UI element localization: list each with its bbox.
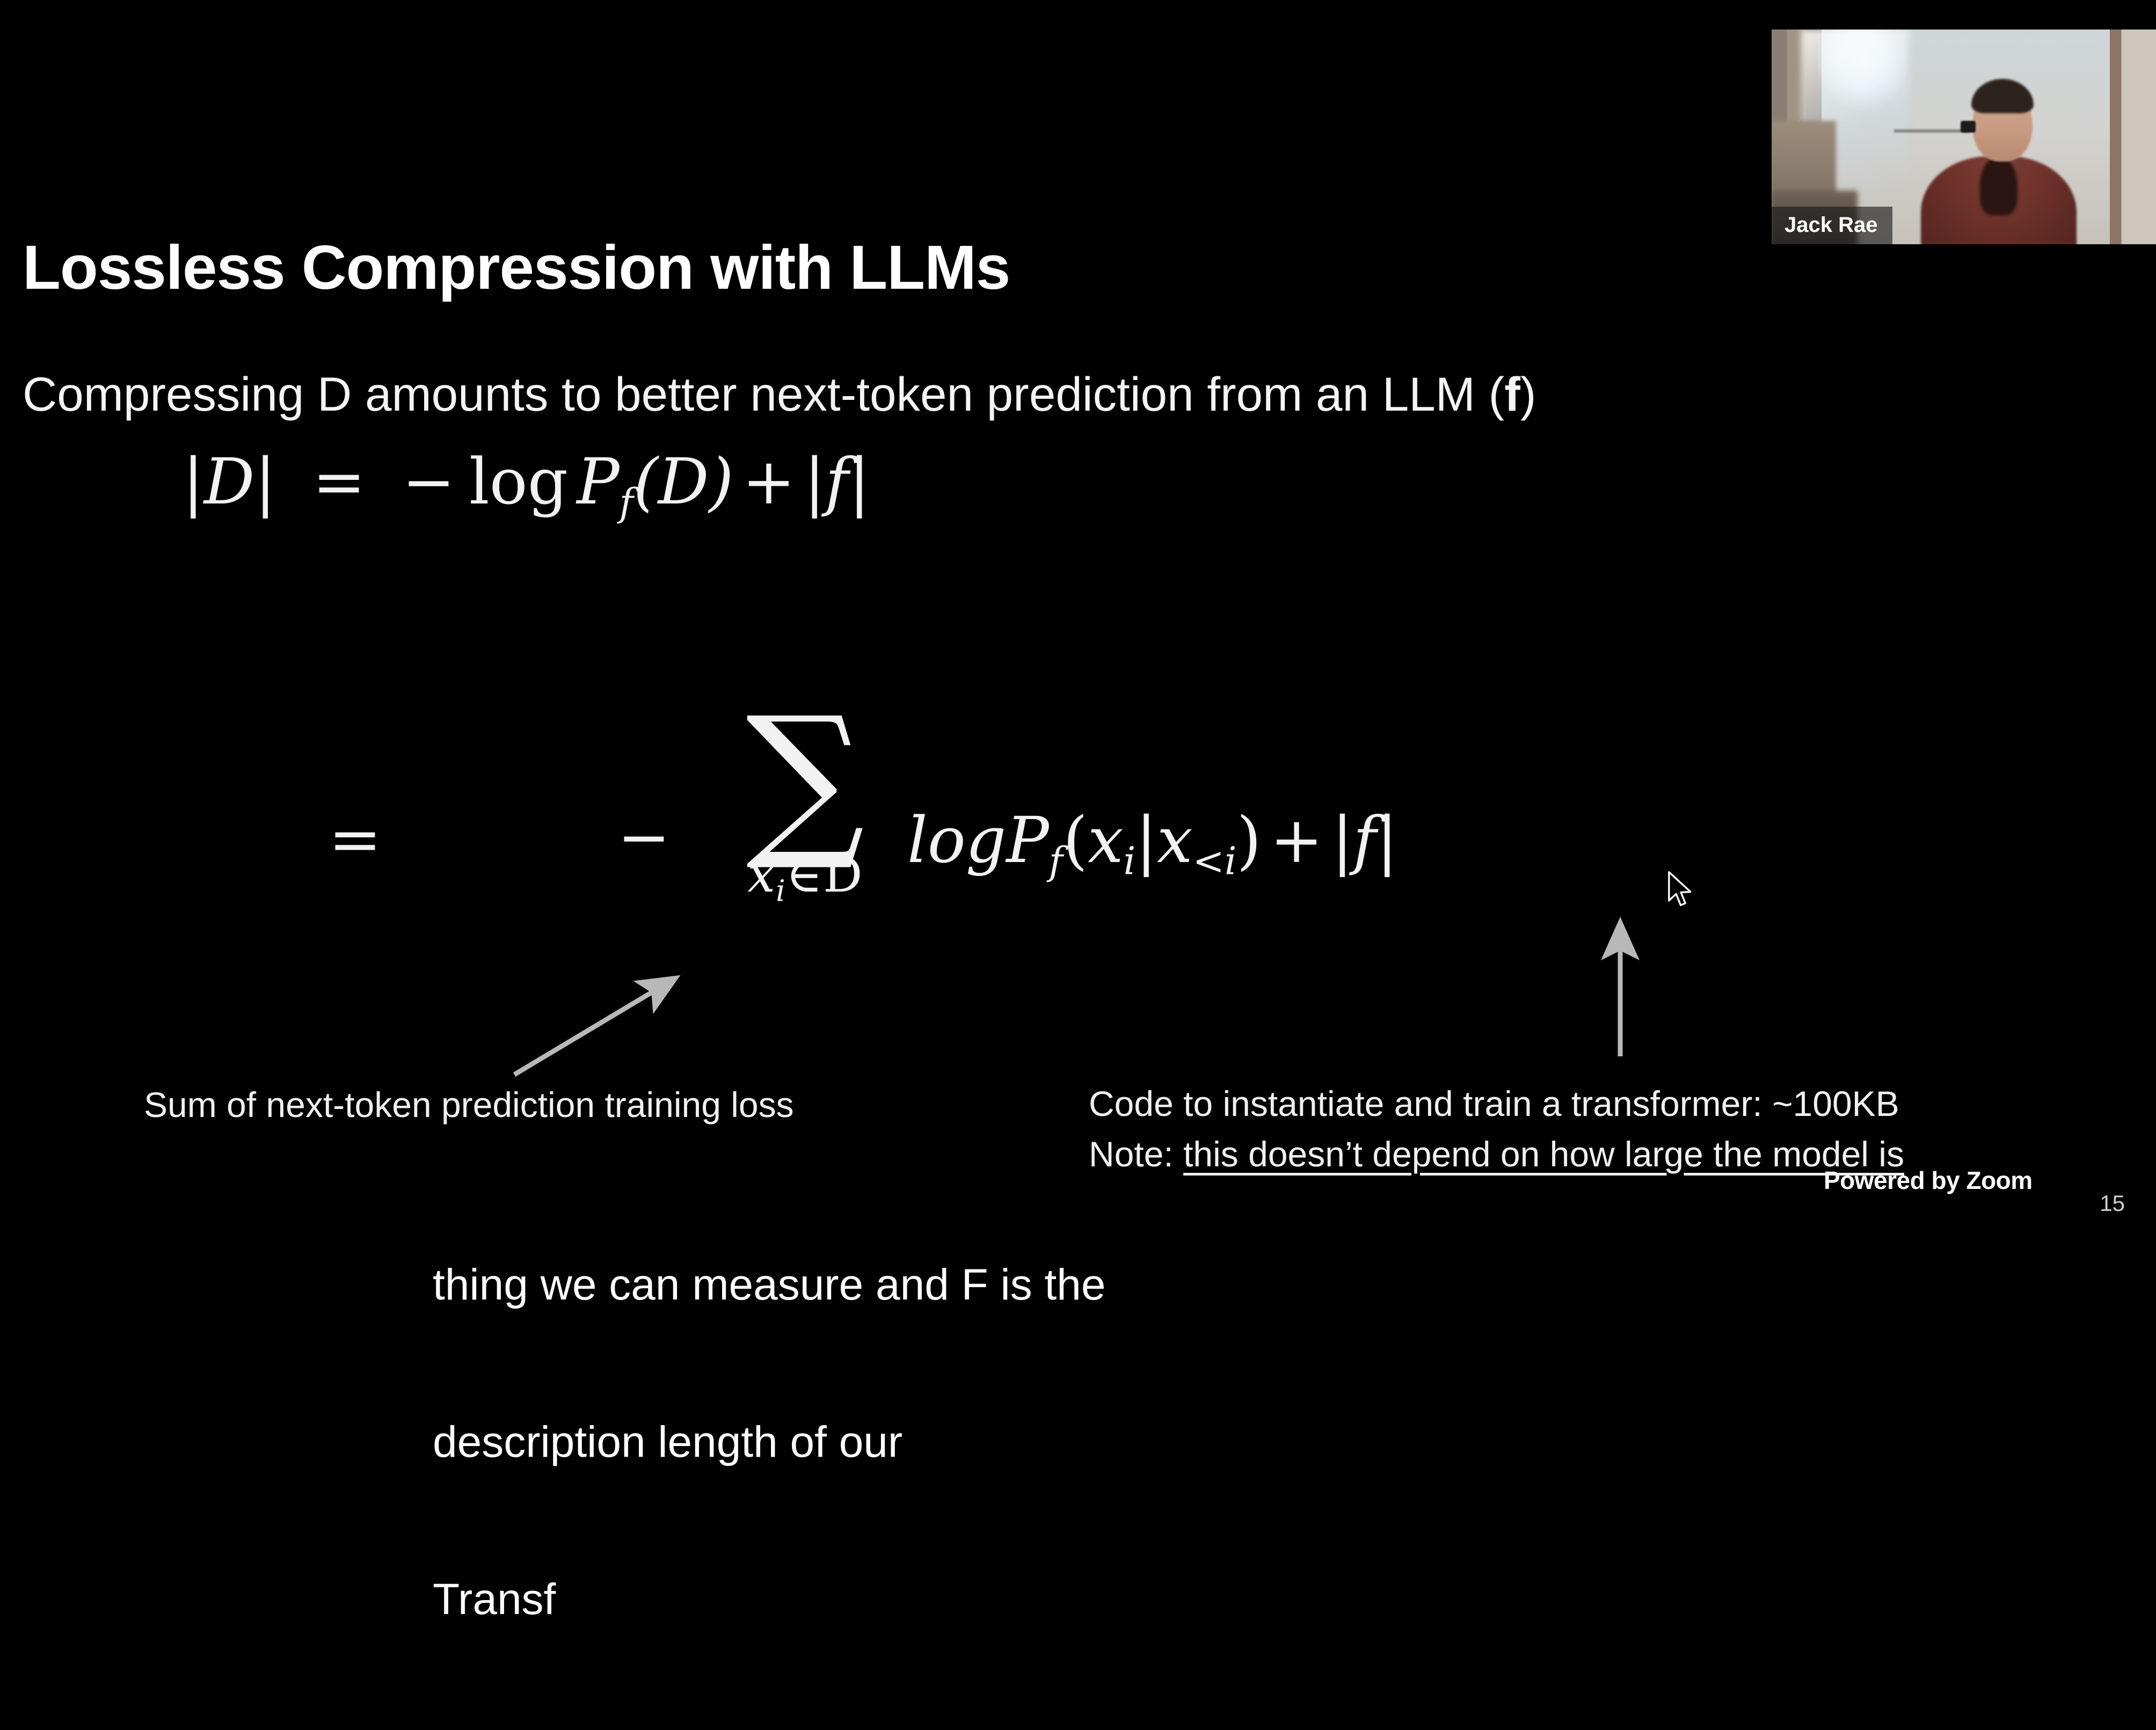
eq2-x-lt-i-subscript: <i <box>1193 839 1237 884</box>
summation-index-i: i <box>776 874 786 909</box>
eq1-minus: − <box>402 444 455 519</box>
eq1-argument: (D) <box>633 444 734 519</box>
equation-1: |D|=−logPf(D)+|f| <box>183 450 870 522</box>
eq1-plus: + <box>734 444 804 519</box>
eq1-P: P <box>577 444 619 519</box>
equation-2-summation: ∑ xi∈D <box>687 709 923 909</box>
annotation-note-underlined: this doesn’t depend on how large the mod… <box>1183 1134 1904 1174</box>
eq2-close-paren: ) <box>1237 803 1262 877</box>
eq1-model-size: |f| <box>804 444 870 519</box>
eq2-log: log <box>907 803 1006 877</box>
slide-subtitle: Compressing D amounts to better next-tok… <box>23 370 1536 418</box>
participant-name-label: Jack Rae <box>1772 207 1892 244</box>
equation-2-body: logPf(xi|x<i)+|f| <box>907 803 1398 884</box>
equation-2-equals: = <box>329 802 382 876</box>
annotation-code-size: Code to instantiate and train a transfor… <box>1089 1079 1904 1179</box>
arrow-up-icon <box>1573 907 1670 1063</box>
slide-subtitle-text: Compressing D amounts to better next-tok… <box>23 367 1504 421</box>
eq2-x-i: x <box>1088 803 1124 877</box>
eq2-model-size: |f| <box>1331 803 1397 877</box>
caption-line-1: thing we can measure and F is the <box>433 1259 1105 1311</box>
eq1-P-subscript: f <box>620 480 633 525</box>
equation-2-minus: − <box>617 800 671 874</box>
eq1-equals: = <box>276 444 402 519</box>
caption-line-2: description length of our <box>433 1416 1105 1469</box>
slide-title: Lossless Compression with LLMs <box>23 236 1010 298</box>
video-participant-tile[interactable]: Jack Rae <box>1772 30 2156 244</box>
eq1-log: log <box>469 444 568 519</box>
eq2-conditional-bar: | <box>1135 803 1157 877</box>
eq2-open-paren: ( <box>1063 803 1088 877</box>
video-caption-overlay: thing we can measure and F is the descri… <box>433 1154 1105 1730</box>
mouse-pointer-icon <box>1666 871 1698 913</box>
summation-index-x: x <box>747 846 776 903</box>
summation-index: xi∈D <box>687 846 923 909</box>
microphone-arm <box>1894 129 1969 133</box>
eq1-lhs: |D| <box>183 444 276 519</box>
slide-subtitle-symbol-f: f <box>1504 367 1520 421</box>
slide-subtitle-close-paren: ) <box>1520 367 1536 421</box>
eq2-x-i-subscript: i <box>1124 839 1136 884</box>
presentation-slide: Lossless Compression with LLMs Compressi… <box>0 0 2156 1308</box>
participant-collar <box>1980 156 2017 215</box>
summation-index-rest: ∈D <box>786 846 863 903</box>
annotation-code-size-line2: Note: this doesn’t depend on how large t… <box>1089 1129 1904 1180</box>
slide-page-number: 15 <box>2100 1191 2125 1216</box>
arrow-diagonal-up-right-icon <box>472 950 698 1095</box>
caption-line-3: Transf <box>433 1573 1105 1626</box>
eq2-x-lt-i: x <box>1157 803 1193 877</box>
eq2-P: P <box>1006 803 1048 877</box>
annotation-code-size-line1: Code to instantiate and train a transfor… <box>1089 1079 1904 1129</box>
powered-by-zoom-label: Powered by Zoom <box>1824 1166 2033 1195</box>
annotation-sum-of-loss: Sum of next-token prediction training lo… <box>144 1084 794 1125</box>
eq2-P-subscript: f <box>1049 839 1063 884</box>
microphone-icon <box>1961 121 1976 133</box>
eq2-plus: + <box>1262 803 1332 877</box>
sigma-icon: ∑ <box>687 709 923 848</box>
